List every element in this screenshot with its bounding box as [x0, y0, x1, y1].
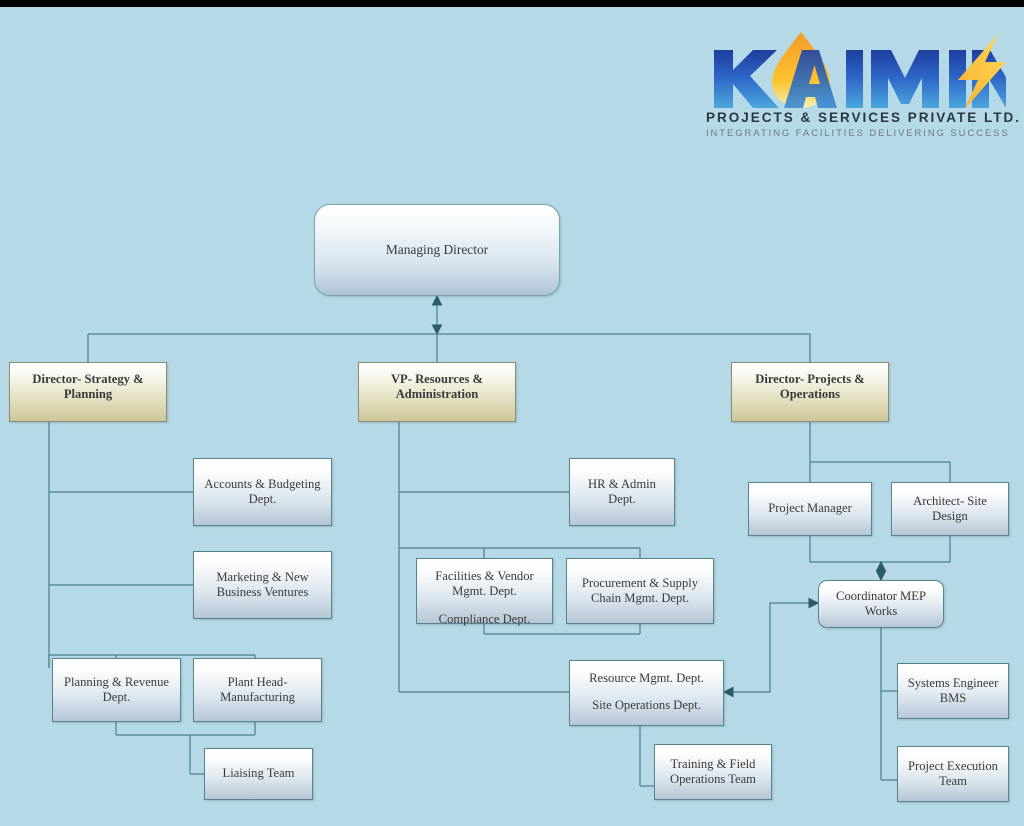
node-label: Accounts & Budgeting Dept. — [199, 477, 326, 508]
node-label: Liaising Team — [223, 766, 295, 781]
node-marketing-new-business-ventures[interactable]: Marketing & New Business Ventures — [193, 551, 332, 619]
node-project-manager[interactable]: Project Manager — [748, 482, 872, 536]
node-label: Director- Strategy & Planning — [15, 372, 161, 403]
node-planning-revenue-dept[interactable]: Planning & Revenue Dept. — [52, 658, 181, 722]
node-director-projects-operations[interactable]: Director- Projects & Operations — [731, 362, 889, 422]
node-label-line1: Facilities & Vendor Mgmt. Dept. — [422, 569, 547, 600]
node-label: HR & Admin Dept. — [575, 477, 669, 508]
node-label: Plant Head-Manufacturing — [199, 675, 316, 706]
node-label: Training & Field Operations Team — [660, 757, 766, 788]
node-label-line2: Compliance Dept. — [422, 612, 547, 627]
node-procurement-supply-chain-dept[interactable]: Procurement & Supply Chain Mgmt. Dept. — [566, 558, 714, 624]
node-label: Planning & Revenue Dept. — [58, 675, 175, 706]
node-coordinator-mep-works[interactable]: Coordinator MEP Works — [818, 580, 944, 628]
node-label: Systems Engineer BMS — [903, 676, 1003, 707]
node-liaising-team[interactable]: Liaising Team — [204, 748, 313, 800]
node-managing-director[interactable]: Managing Director — [314, 204, 560, 296]
node-label: Marketing & New Business Ventures — [199, 570, 326, 601]
org-chart-canvas: PROJECTS & SERVICES PRIVATE LTD. INTEGRA… — [0, 0, 1024, 826]
node-label: Director- Projects & Operations — [737, 372, 883, 403]
node-hr-admin-dept[interactable]: HR & Admin Dept. — [569, 458, 675, 526]
node-label: Managing Director — [386, 242, 488, 258]
node-systems-engineer-bms[interactable]: Systems Engineer BMS — [897, 663, 1009, 719]
node-label-line1: Resource Mgmt. Dept. — [589, 671, 704, 686]
node-resource-mgmt-site-operations[interactable]: Resource Mgmt. Dept. Site Operations Dep… — [569, 660, 724, 726]
node-label-line2: Site Operations Dept. — [589, 698, 704, 713]
node-accounts-budgeting-dept[interactable]: Accounts & Budgeting Dept. — [193, 458, 332, 526]
node-architect-site-design[interactable]: Architect- Site Design — [891, 482, 1009, 536]
node-vp-resources-administration[interactable]: VP- Resources & Administration — [358, 362, 516, 422]
node-label: VP- Resources & Administration — [364, 372, 510, 403]
node-facilities-vendor-compliance[interactable]: Facilities & Vendor Mgmt. Dept. Complian… — [416, 558, 553, 624]
node-plant-head-manufacturing[interactable]: Plant Head-Manufacturing — [193, 658, 322, 722]
node-project-execution-team[interactable]: Project Execution Team — [897, 746, 1009, 802]
node-label: Procurement & Supply Chain Mgmt. Dept. — [572, 576, 708, 607]
node-director-strategy-planning[interactable]: Director- Strategy & Planning — [9, 362, 167, 422]
node-label: Coordinator MEP Works — [824, 589, 938, 620]
node-label: Architect- Site Design — [897, 494, 1003, 525]
node-label: Project Execution Team — [903, 759, 1003, 790]
node-training-field-operations-team[interactable]: Training & Field Operations Team — [654, 744, 772, 800]
node-label: Project Manager — [768, 501, 852, 516]
